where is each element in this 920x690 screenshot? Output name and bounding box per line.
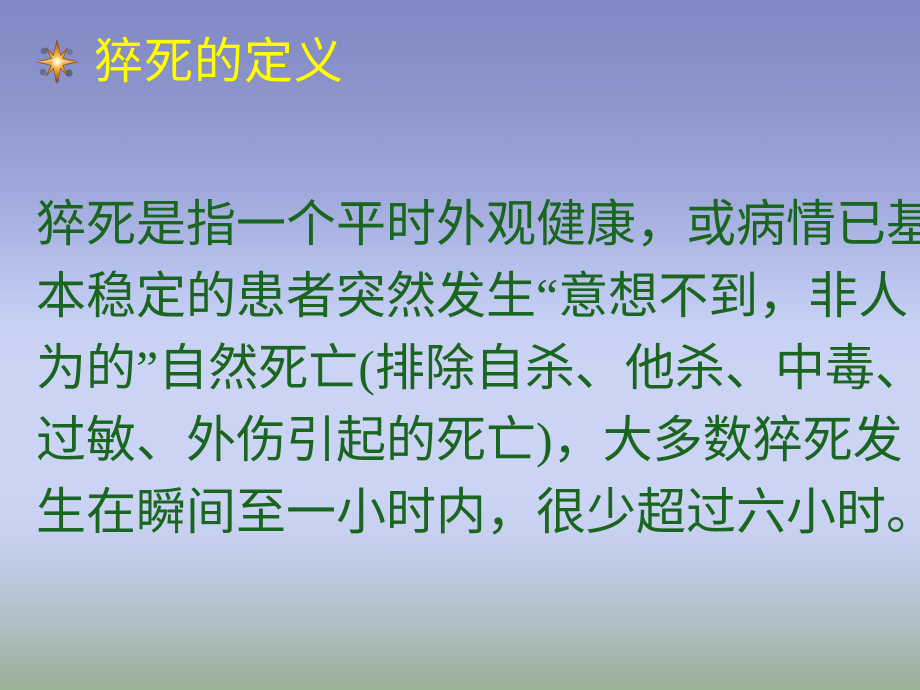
body-line: 猝死是指一个平时外观健康，或病情已基: [36, 188, 892, 260]
page-title: 猝死的定义: [94, 36, 344, 87]
slide-title-block: 猝死的定义: [34, 36, 344, 87]
body-line: 过敏、外伤引起的死亡)，大多数猝死发: [36, 404, 892, 476]
body-line: 为的”自然死亡(排除自杀、他杀、中毒、: [36, 332, 892, 404]
body-line: 本稳定的患者突然发生“意想不到，非人: [36, 260, 892, 332]
body-line: 生在瞬间至一小时内，很少超过六小时。: [36, 476, 892, 548]
slide-body-text: 猝死是指一个平时外观健康，或病情已基 本稳定的患者突然发生“意想不到，非人 为的…: [36, 188, 892, 548]
presentation-slide: 猝死的定义 猝死是指一个平时外观健康，或病情已基 本稳定的患者突然发生“意想不到…: [0, 0, 920, 690]
star-sparkle-icon: [34, 39, 80, 85]
